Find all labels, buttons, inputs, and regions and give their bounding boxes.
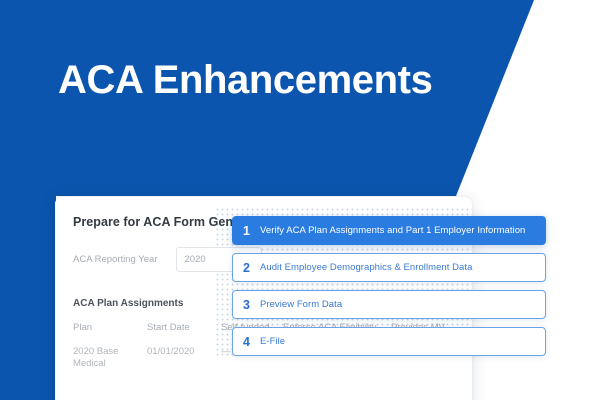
step-item-3[interactable]: 3 Preview Form Data [232,290,546,319]
step-label: Audit Employee Demographics & Enrollment… [260,262,472,273]
cell-start-date: 01/01/2020 [147,346,221,370]
step-item-2[interactable]: 2 Audit Employee Demographics & Enrollme… [232,253,546,282]
step-item-1[interactable]: 1 Verify ACA Plan Assignments and Part 1… [232,216,546,245]
step-item-4[interactable]: 4 E-File [232,327,546,356]
steps-overlay: 1 Verify ACA Plan Assignments and Part 1… [232,216,546,364]
step-number: 2 [233,261,260,275]
column-header-plan: Plan [73,322,147,346]
step-number: 4 [233,335,260,349]
cell-plan: 2020 Base Medical [73,346,147,370]
page-title: ACA Enhancements [58,58,432,103]
step-number: 3 [233,298,260,312]
reporting-year-value: 2020 [185,254,206,265]
step-label: E-File [260,336,285,347]
reporting-year-label: ACA Reporting Year [73,254,158,265]
column-header-start-date: Start Date [147,322,221,346]
step-number: 1 [233,224,260,238]
step-label: Preview Form Data [260,299,342,310]
step-label: Verify ACA Plan Assignments and Part 1 E… [260,225,525,236]
screenshot-root: ACA Enhancements Prepare for ACA Form Ge… [0,0,600,400]
